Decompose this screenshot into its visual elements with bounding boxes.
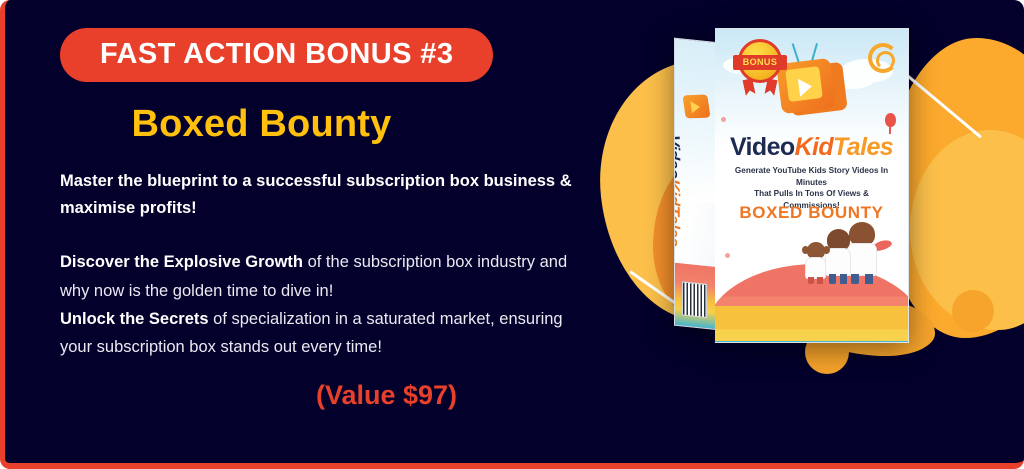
kid-leg-right: [840, 274, 847, 284]
kids-illustration-icon: [803, 214, 891, 284]
kid-figure-middle: [825, 229, 851, 284]
product-box-front: BONUS VideoKidTales Generate YouTube Kid…: [715, 28, 909, 343]
product-logo: VideoKidTales: [715, 133, 908, 162]
body-highlight-1: Discover the Explosive Growth: [60, 253, 303, 271]
barcode-icon: [682, 281, 707, 318]
page-title: Boxed Bounty: [60, 104, 583, 146]
kid-leg-right: [817, 277, 823, 284]
kid-body: [805, 257, 826, 279]
kid-body: [847, 243, 877, 276]
body-highlight-2: Unlock the Secrets: [60, 310, 209, 328]
play-triangle-icon: [798, 77, 813, 96]
decorative-dot-right: [952, 290, 994, 332]
hot-air-balloon-icon: [885, 113, 896, 127]
fast-action-bonus-card: FAST ACTION BONUS #3 Boxed Bounty Master…: [0, 0, 1024, 469]
lead-paragraph: Master the blueprint to a successful sub…: [60, 168, 580, 222]
sun-swirl-icon: [868, 43, 898, 73]
decorative-dot: [721, 117, 726, 122]
body-paragraph: Discover the Explosive Growth of the sub…: [60, 248, 580, 362]
award-ribbon-icon: BONUS: [735, 39, 785, 89]
tagline-line-1: Generate YouTube Kids Story Videos In Mi…: [735, 166, 888, 187]
kid-leg-left: [851, 274, 859, 284]
value-price-tag: (Value $97): [60, 380, 583, 411]
kid-leg-right: [865, 274, 873, 284]
logo-part-tales: Tales: [833, 133, 893, 161]
logo-part-kid: Kid: [795, 133, 833, 161]
kid-figure-tall: [847, 222, 877, 284]
bonus-copy-column: FAST ACTION BONUS #3 Boxed Bounty Master…: [5, 0, 613, 463]
spine-logo-part-2: KidTales: [674, 178, 683, 248]
video-play-icon: [779, 59, 843, 117]
decorative-blob-yellow-right-2: [910, 130, 1024, 330]
spine-video-play-icon: [683, 94, 711, 118]
product-box-spine: VideoKidTales: [674, 38, 716, 330]
kid-figure-small: [805, 242, 827, 284]
product-box-mockup: VideoKidTales BONUS: [674, 28, 909, 343]
decorative-dot: [725, 253, 730, 258]
bonus-badge: FAST ACTION BONUS #3: [60, 28, 493, 82]
kid-leg-left: [829, 274, 836, 284]
seal-label: BONUS: [733, 55, 787, 70]
kid-leg-left: [808, 277, 814, 284]
spine-logo-part-1: Video: [674, 134, 683, 180]
logo-part-video: Video: [730, 133, 795, 161]
